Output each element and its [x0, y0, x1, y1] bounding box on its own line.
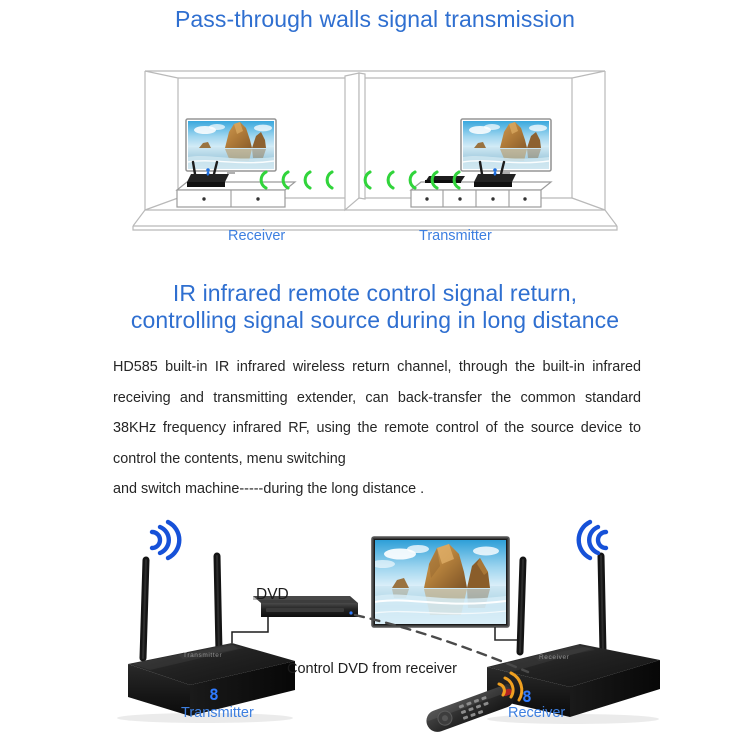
transmitter-unit: Transmitter 8 — [117, 556, 295, 723]
room-tv-left — [186, 119, 276, 174]
label-dvd: DVD — [256, 586, 289, 604]
product-tv — [371, 537, 520, 652]
description-paragraph: HD585 built-in IR infrared wireless retu… — [113, 352, 641, 505]
page-title-pass-through: Pass-through walls signal transmission — [0, 6, 750, 33]
label-control-dvd-from-receiver: Control DVD from receiver — [287, 661, 457, 677]
receiver-wifi-icon — [579, 522, 606, 558]
dvd-cable — [232, 617, 268, 643]
transmitter-display-digit: 8 — [209, 685, 219, 704]
section-title-ir-line2: controlling signal source during in long… — [0, 307, 750, 334]
room-tv-right — [461, 119, 551, 174]
room-label-transmitter: Transmitter — [419, 228, 492, 244]
product-label-transmitter: Transmitter — [181, 705, 254, 721]
paragraph-last-line: and switch machine-----during the long d… — [113, 474, 641, 505]
section-title-ir-line1: IR infrared remote control signal return… — [0, 280, 750, 307]
product-diagram: Transmitter 8 — [0, 512, 750, 750]
room-label-receiver: Receiver — [228, 228, 285, 244]
product-label-receiver: Receiver — [508, 705, 565, 721]
transmitter-wifi-icon — [152, 522, 179, 558]
receiver-display-digit: 8 — [522, 687, 532, 706]
room-diagram — [113, 58, 637, 248]
paragraph-body: HD585 built-in IR infrared wireless retu… — [113, 359, 641, 467]
dvd-player — [232, 596, 358, 643]
tv-cable — [495, 627, 520, 652]
